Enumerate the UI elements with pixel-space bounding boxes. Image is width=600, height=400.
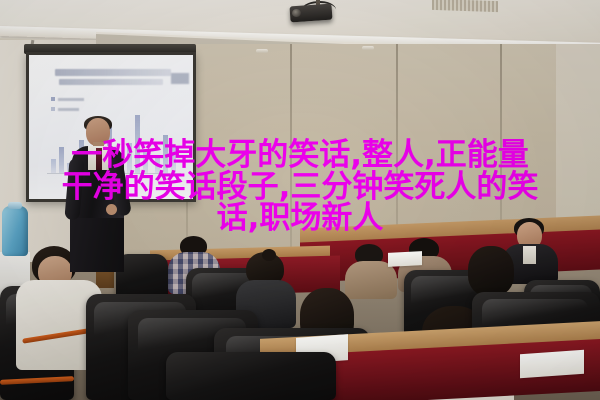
photo-grain-overlay <box>0 0 600 400</box>
photo-canvas: 一秒笑掉大牙的笑话,整人,正能量 干净的笑话段子,三分钟笑死人的笑 话,职场新人 <box>0 0 600 400</box>
